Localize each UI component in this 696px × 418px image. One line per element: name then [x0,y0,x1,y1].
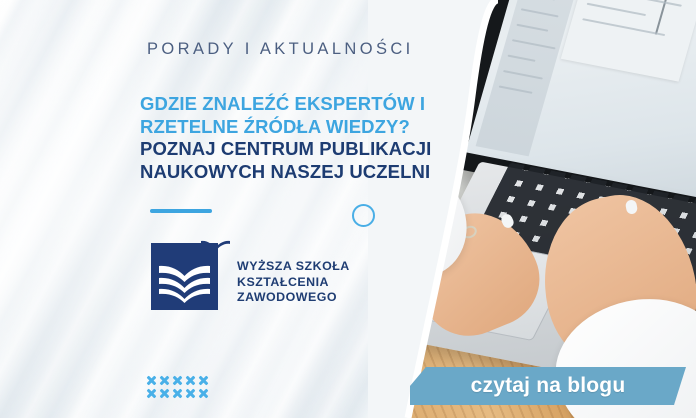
logo-line-3: ZAWODOWEGO [237,290,350,306]
headline-line-3: POZNAJ CENTRUM PUBLIKACJI [140,138,470,161]
headline-line-2: RZETELNE ŹRÓDŁA WIEDZY? [140,116,470,139]
university-logo: WYŻSZA SZKOŁA KSZTAŁCENIA ZAWODOWEGO [151,243,350,315]
cta-label: czytaj na blogu [471,374,626,398]
x-mark [145,387,158,400]
x-mark [171,387,184,400]
x-mark [145,374,158,387]
x-mark [197,387,210,400]
circle-outline-decoration [352,204,375,227]
read-on-blog-button[interactable]: czytaj na blogu [410,367,686,405]
bird-icon [201,239,231,255]
headline-line-1: GDZIE ZNALEŹĆ EKSPERTÓW I [140,93,470,116]
x-mark [171,374,184,387]
x-mark [197,374,210,387]
x-mark [158,374,171,387]
kicker-text: PORADY I AKTUALNOŚCI [147,40,414,59]
x-mark [184,374,197,387]
logo-mark [151,243,223,315]
x-mark [158,387,171,400]
promo-banner: PORADY I AKTUALNOŚCI GDZIE ZNALEŹĆ EKSPE… [0,0,696,418]
logo-line-1: WYŻSZA SZKOŁA [237,259,350,275]
headline: GDZIE ZNALEŹĆ EKSPERTÓW I RZETELNE ŹRÓDŁ… [140,93,470,183]
logo-wordmark: WYŻSZA SZKOŁA KSZTAŁCENIA ZAWODOWEGO [237,259,350,306]
logo-line-2: KSZTAŁCENIA [237,275,350,291]
x-mark [184,387,197,400]
accent-rule [150,209,212,213]
x-pattern-decoration [145,374,210,400]
headline-line-4: NAUKOWYCH NASZEJ UCZELNI [140,161,470,184]
